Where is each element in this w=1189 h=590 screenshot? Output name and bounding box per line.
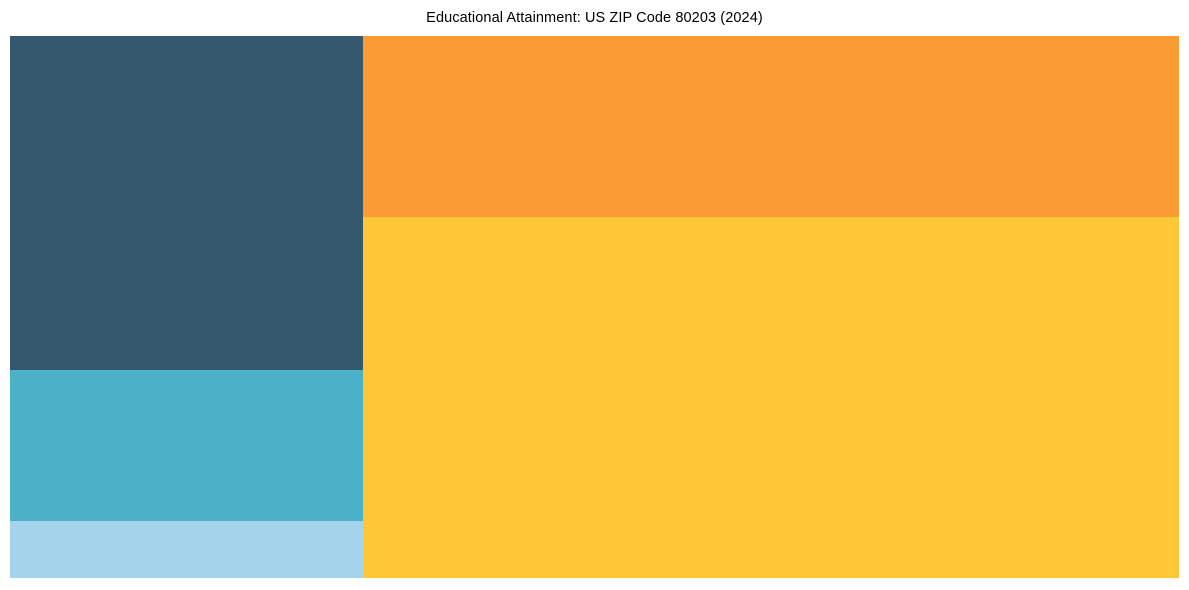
tile-bachelors-degree[interactable] — [363, 217, 1179, 578]
chart-title: Educational Attainment: US ZIP Code 8020… — [0, 0, 1189, 36]
treemap-figure: Educational Attainment: US ZIP Code 8020… — [0, 0, 1189, 590]
tile-some-college-associates[interactable] — [10, 36, 363, 370]
treemap-plot-area — [10, 36, 1179, 578]
tile-graduate-professional-degree[interactable] — [363, 36, 1179, 217]
tile-high-school-graduate[interactable] — [10, 370, 363, 521]
tile-less-than-high-school[interactable] — [10, 521, 363, 578]
